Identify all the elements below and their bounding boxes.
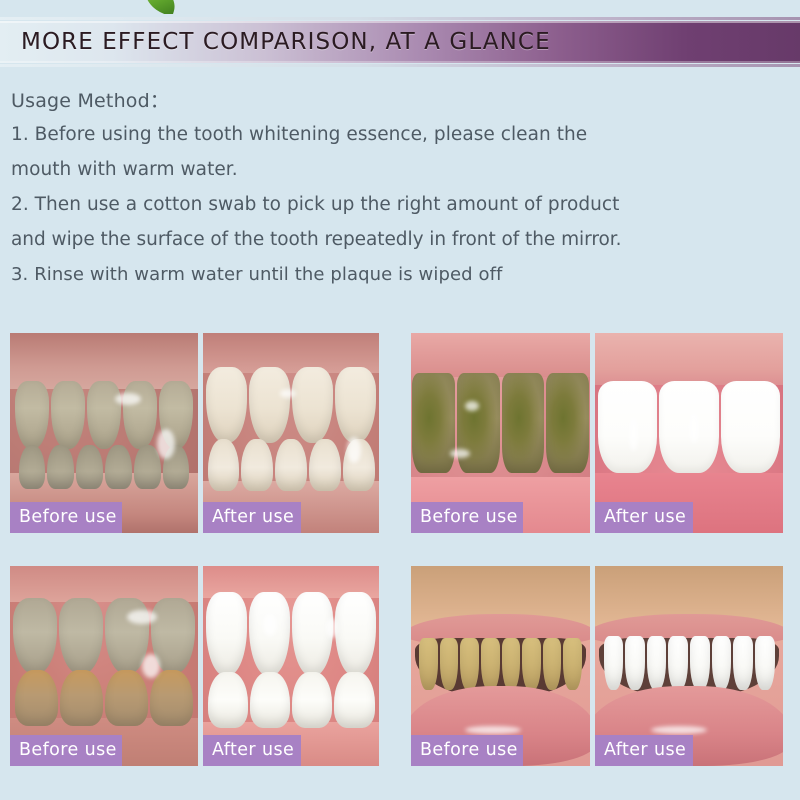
comparison-photo-before-3: Before use [10,566,198,766]
caption-badge-after: After use [203,502,301,533]
comparison-photo-after-2: After use [595,333,783,533]
caption-badge-before: Before use [411,502,523,533]
usage-heading: Usage Method： [11,86,791,117]
comparison-photo-before-2: Before use [411,333,590,533]
caption-badge-before: Before use [10,735,122,766]
caption-badge-before: Before use [411,735,523,766]
comparison-photo-before-1: Before use [10,333,198,533]
caption-badge-after: After use [595,735,693,766]
comparison-photo-before-4: Before use [411,566,590,766]
usage-step-2: 2. Then use a cotton swab to pick up the… [11,187,791,222]
header-banner: MORE EFFECT COMPARISON, AT A GLANCE [0,21,800,63]
usage-instructions: Usage Method： 1. Before using the tooth … [11,86,791,292]
caption-label: Before use [420,509,518,527]
caption-label: Before use [19,742,117,760]
leaf-icon [143,0,179,14]
caption-label: After use [604,742,686,760]
caption-label: Before use [420,742,518,760]
usage-step-1: 1. Before using the tooth whitening esse… [11,117,791,152]
comparison-photo-after-1: After use [203,333,379,533]
comparison-photo-after-3: After use [203,566,379,766]
usage-step-1-continued: mouth with warm water. [11,152,791,187]
usage-step-2-continued: and wipe the surface of the tooth repeat… [11,222,791,257]
comparison-row-2: Before use After use [0,566,800,766]
caption-label: After use [604,509,686,527]
comparison-photo-after-4: After use [595,566,783,766]
comparison-row-1: Before use After use [0,333,800,533]
caption-label: Before use [19,509,117,527]
caption-label: After use [212,509,294,527]
caption-label: After use [212,742,294,760]
before-after-photo-grid: Before use After use [0,333,800,788]
caption-badge-after: After use [203,735,301,766]
page-title: MORE EFFECT COMPARISON, AT A GLANCE [21,29,551,55]
caption-badge-after: After use [595,502,693,533]
usage-step-3: 3. Rinse with warm water until the plaqu… [11,257,791,292]
leaf-shape [143,0,179,14]
caption-badge-before: Before use [10,502,122,533]
